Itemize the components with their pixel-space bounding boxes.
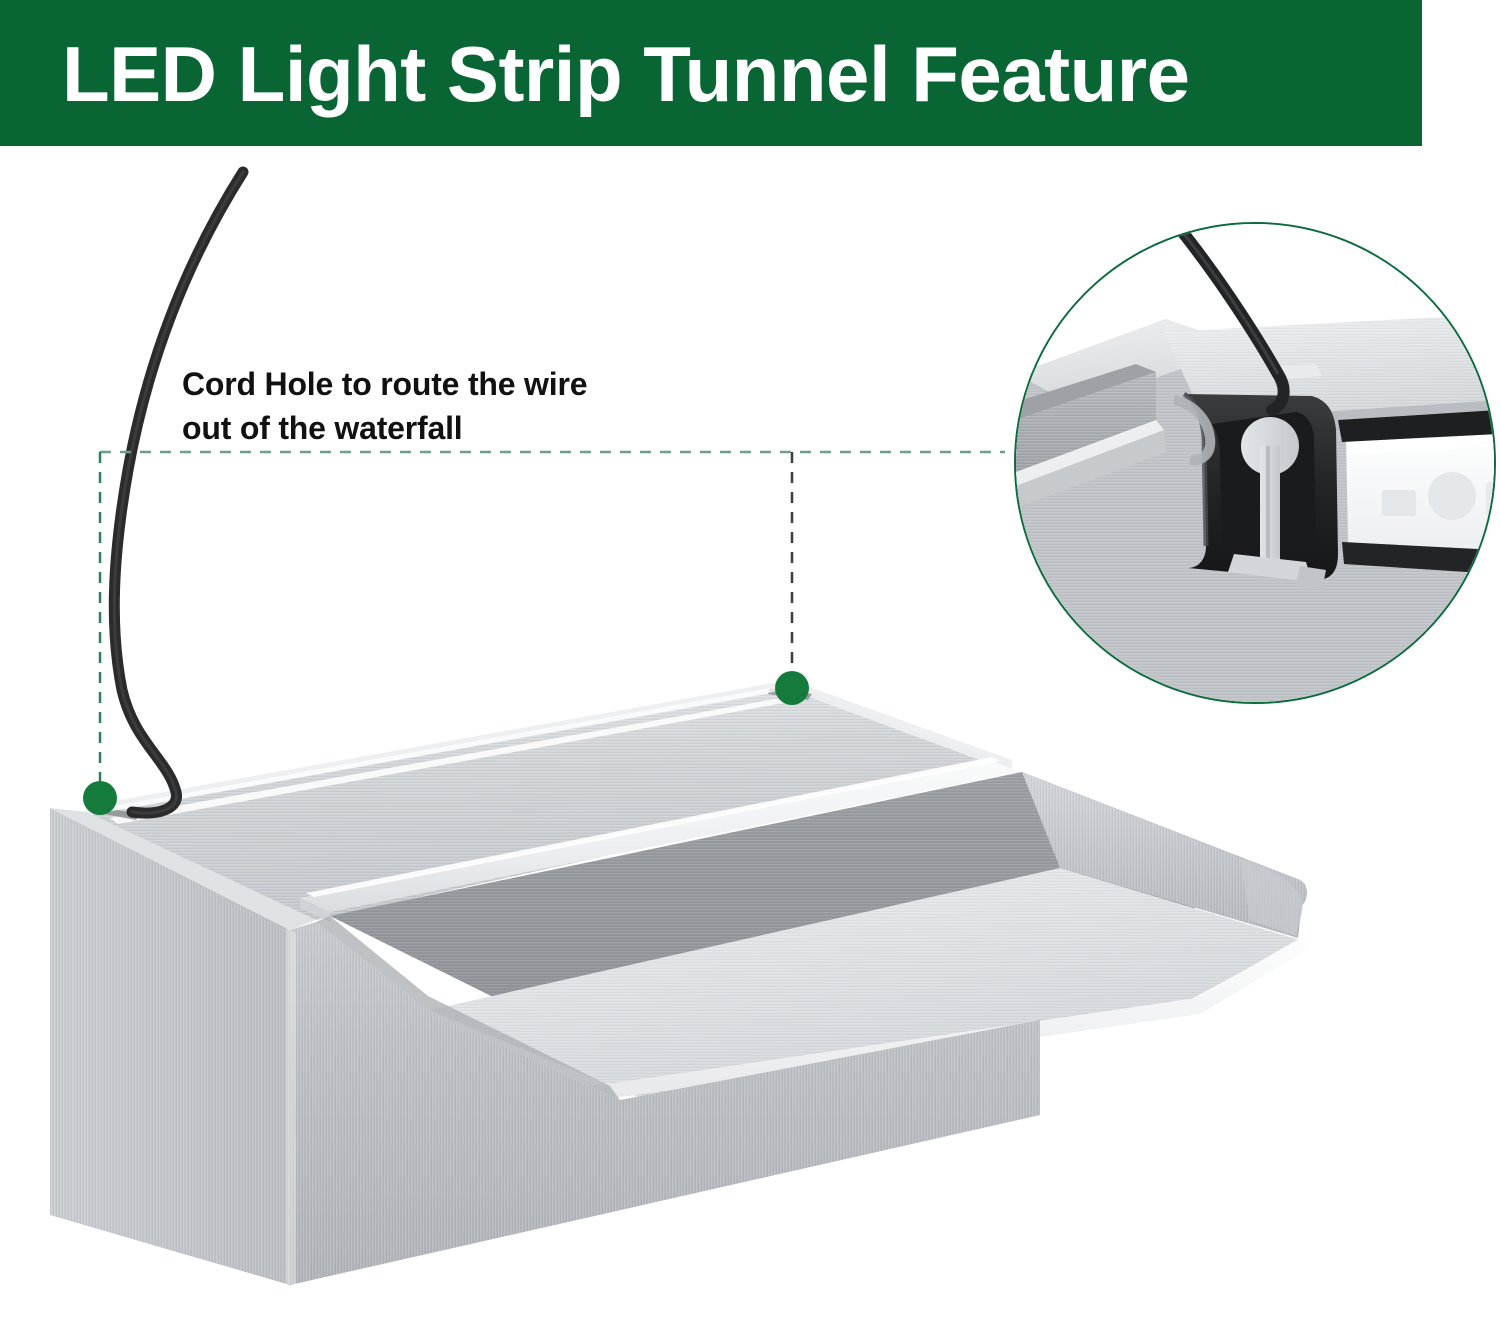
cord-hole-slots <box>94 688 812 820</box>
spillway-side-wall <box>1022 772 1307 938</box>
cord-hole-closeup-inset <box>1014 222 1496 704</box>
cord-hole-right-marker <box>775 671 809 705</box>
product-front-housing <box>50 808 1040 1285</box>
led-light-strip <box>1346 428 1496 552</box>
top-seam <box>92 684 796 814</box>
callout-label: Cord Hole to route the wire out of the w… <box>182 362 802 450</box>
cord-hole-left-marker <box>83 781 117 815</box>
inner-recess-wall <box>330 772 1300 1060</box>
spillway-lip <box>566 936 1310 1104</box>
spillway-pan <box>430 868 1300 1098</box>
led-strip-channel <box>300 757 1020 922</box>
product-top-plate <box>86 680 1012 920</box>
infographic-page: LED Light Strip Tunnel Feature <box>0 0 1500 1319</box>
callout-line-2: out of the waterfall <box>182 406 802 450</box>
callout-line-1: Cord Hole to route the wire <box>182 362 802 406</box>
header-banner: LED Light Strip Tunnel Feature <box>0 0 1422 146</box>
inset-detail-drawing <box>1016 224 1496 704</box>
page-title: LED Light Strip Tunnel Feature <box>62 24 1402 124</box>
